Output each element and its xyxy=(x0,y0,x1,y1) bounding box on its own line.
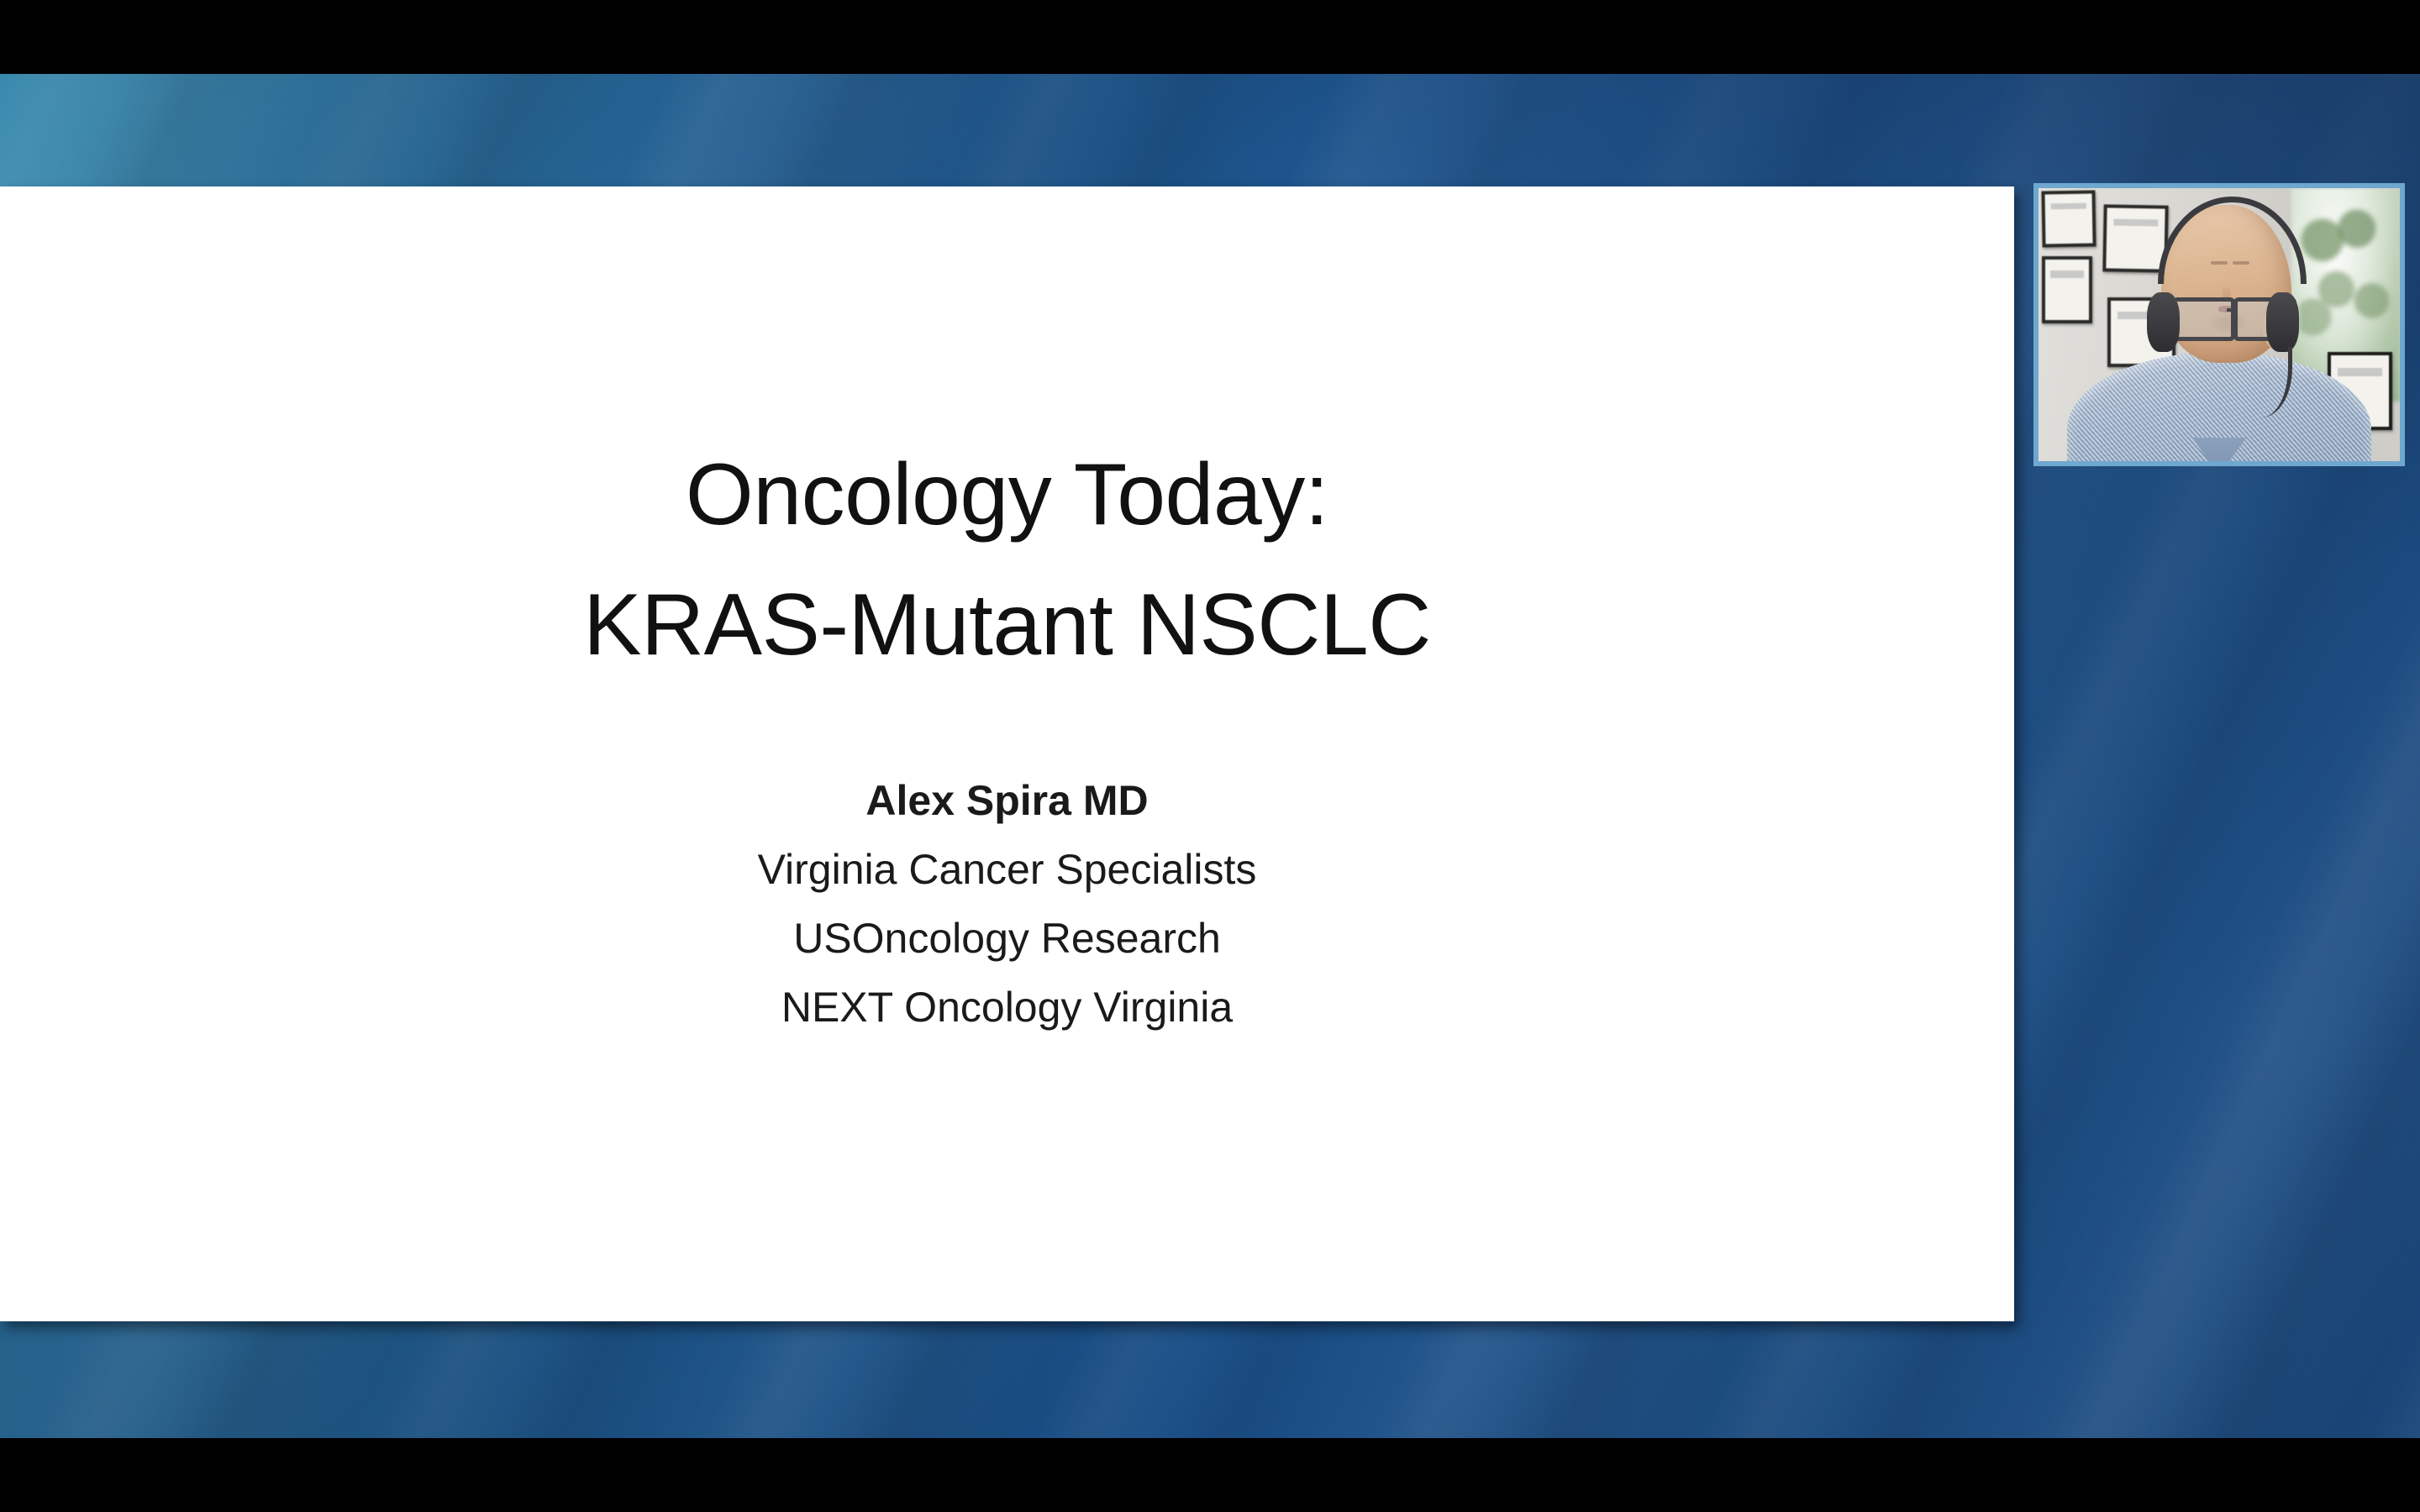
title-line-2: KRAS-Mutant NSCLC xyxy=(0,560,2014,690)
presentation-stage: Oncology Today: KRAS-Mutant NSCLC Alex S… xyxy=(0,0,2420,1512)
affiliation-line-3: NEXT Oncology Virginia xyxy=(0,973,2014,1042)
slide-byline: Alex Spira MD Virginia Cancer Specialist… xyxy=(0,766,2014,1042)
affiliation-line-2: USOncology Research xyxy=(0,904,2014,973)
headset-earcup-right xyxy=(2266,292,2299,353)
title-line-1: Oncology Today: xyxy=(0,430,2014,560)
speaker-video-thumbnail[interactable] xyxy=(2033,183,2405,466)
speaker-video-frame xyxy=(2039,188,2400,461)
wall-frame xyxy=(2103,204,2169,272)
slide-title: Oncology Today: KRAS-Mutant NSCLC xyxy=(0,430,2014,690)
eyeglasses-bridge xyxy=(2227,308,2238,312)
affiliation-line-1: Virginia Cancer Specialists xyxy=(0,835,2014,904)
eyeglasses-lens-left xyxy=(2172,297,2235,341)
letterbox-bottom xyxy=(0,1438,2420,1512)
presenter-name: Alex Spira MD xyxy=(0,766,2014,835)
wall-frame xyxy=(2042,256,2092,323)
slide-panel: Oncology Today: KRAS-Mutant NSCLC Alex S… xyxy=(0,186,2014,1321)
wall-frame xyxy=(2042,191,2096,248)
headset-earcup-left xyxy=(2147,292,2180,353)
shirt-collar xyxy=(2191,438,2246,461)
slide-content: Oncology Today: KRAS-Mutant NSCLC Alex S… xyxy=(0,186,2014,1321)
letterbox-top xyxy=(0,0,2420,74)
window-foliage xyxy=(2299,199,2393,363)
